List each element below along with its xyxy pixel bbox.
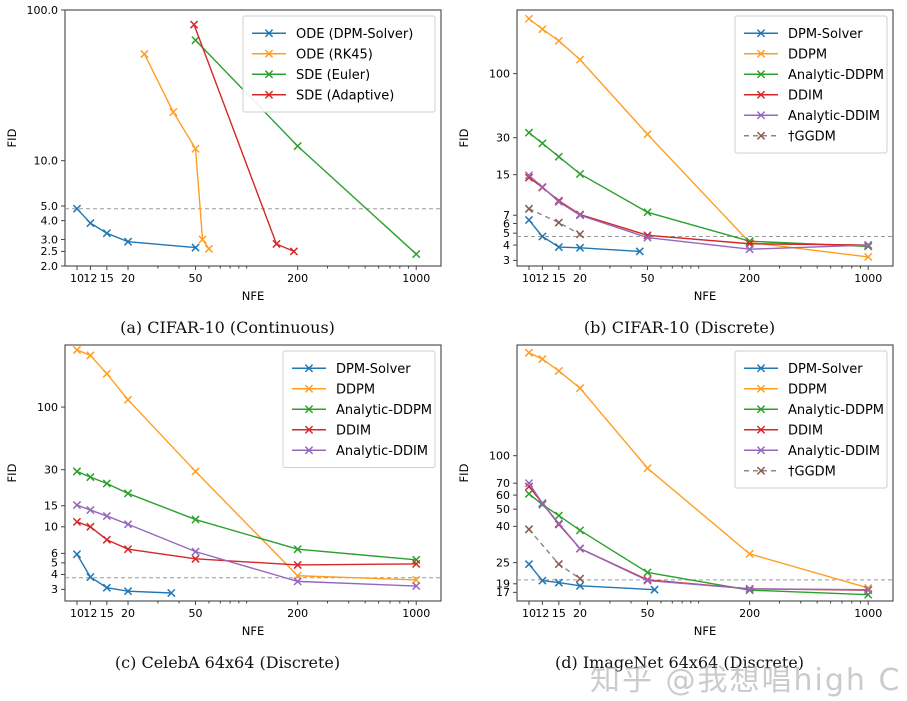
y-axis-label: FID xyxy=(5,463,19,482)
y-tick-label: 100 xyxy=(489,449,510,462)
series-line-analytic-ddim xyxy=(77,505,416,586)
y-tick-label: 70 xyxy=(496,477,510,490)
y-tick-label: 4 xyxy=(503,239,510,252)
legend: DPM-SolverDDPMAnalytic-DDPMDDIMAnalytic-… xyxy=(283,351,435,468)
series-line-ode-dpm-solver- xyxy=(77,209,196,248)
legend-label[interactable]: DDIM xyxy=(788,88,823,103)
x-tick-label: 20 xyxy=(121,272,135,285)
legend-label[interactable]: DDPM xyxy=(788,382,827,397)
y-tick-label: 3.0 xyxy=(41,233,59,246)
figure-root: 101215205020010002.02.53.04.05.010.0100.… xyxy=(0,0,907,701)
x-tick-label: 200 xyxy=(739,607,760,620)
y-tick-label: 5.0 xyxy=(41,200,59,213)
y-tick-label: 2.0 xyxy=(41,260,59,273)
legend-label[interactable]: DDIM xyxy=(336,423,371,438)
y-tick-label: 30 xyxy=(44,463,58,476)
y-tick-label: 100 xyxy=(489,67,510,80)
x-tick-label: 15 xyxy=(552,272,566,285)
legend: ODE (DPM-Solver)ODE (RK45)SDE (Euler)SDE… xyxy=(243,16,435,112)
x-tick-label: 1000 xyxy=(854,272,882,285)
y-tick-label: 3 xyxy=(503,254,510,267)
legend-label[interactable]: †GGDM xyxy=(788,129,836,144)
y-tick-label: 19 xyxy=(496,578,510,591)
series-line-analytic-ddim xyxy=(529,175,868,249)
y-tick-label: 10 xyxy=(44,521,58,534)
y-axis-label: FID xyxy=(5,128,19,147)
series-line-dpm-solver xyxy=(529,220,640,251)
legend-label[interactable]: SDE (Euler) xyxy=(296,68,370,83)
x-tick-label: 50 xyxy=(189,607,203,620)
x-tick-label: 15 xyxy=(100,272,114,285)
legend-label[interactable]: Analytic-DDPM xyxy=(788,68,884,83)
series-line--ggdm xyxy=(529,529,580,578)
x-tick-label: 200 xyxy=(739,272,760,285)
y-tick-label: 10.0 xyxy=(34,154,59,167)
y-axis-label: FID xyxy=(457,463,471,482)
y-tick-label: 15 xyxy=(496,168,510,181)
y-tick-label: 6 xyxy=(51,547,58,560)
x-tick-label: 20 xyxy=(573,272,587,285)
y-tick-label: 15 xyxy=(44,500,58,513)
x-axis-label: NFE xyxy=(694,624,716,638)
series-line-ddim xyxy=(529,487,868,591)
x-tick-label: 20 xyxy=(121,607,135,620)
series-line-dpm-solver xyxy=(77,554,171,593)
x-tick-label: 12 xyxy=(535,272,549,285)
legend-label[interactable]: Analytic-DDIM xyxy=(336,444,428,459)
legend-label[interactable]: DPM-Solver xyxy=(788,27,863,42)
legend-label[interactable]: DDIM xyxy=(788,423,823,438)
x-tick-label: 50 xyxy=(641,272,655,285)
legend-label[interactable]: Analytic-DDPM xyxy=(336,403,432,418)
y-tick-label: 100 xyxy=(37,401,58,414)
x-tick-label: 1000 xyxy=(402,607,430,620)
x-tick-label: 50 xyxy=(641,607,655,620)
legend-label[interactable]: DPM-Solver xyxy=(336,362,411,377)
legend-label[interactable]: Analytic-DDIM xyxy=(788,444,880,459)
panel-caption-c: (c) CelebA 64x64 (Discrete) xyxy=(0,653,455,672)
y-tick-label: 4.0 xyxy=(41,214,59,227)
y-tick-label: 7 xyxy=(503,209,510,222)
chart-panel-b: 10121520502001000345671530100NFEFIDDPM-S… xyxy=(452,0,907,335)
series-line-ddim xyxy=(77,522,416,565)
x-tick-label: 12 xyxy=(83,272,97,285)
x-tick-label: 200 xyxy=(287,272,308,285)
y-tick-label: 30 xyxy=(496,132,510,145)
chart-svg-d: 1012152050200100017192540506070100NFEFID… xyxy=(452,335,907,647)
chart-svg-a: 101215205020010002.02.53.04.05.010.0100.… xyxy=(0,0,455,312)
legend-label[interactable]: DDPM xyxy=(336,382,375,397)
chart-panel-d: 1012152050200100017192540506070100NFEFID… xyxy=(452,335,907,701)
x-tick-label: 12 xyxy=(535,607,549,620)
x-tick-label: 200 xyxy=(287,607,308,620)
x-tick-label: 20 xyxy=(573,607,587,620)
x-tick-label: 15 xyxy=(552,607,566,620)
chart-panel-a: 101215205020010002.02.53.04.05.010.0100.… xyxy=(0,0,455,335)
y-tick-label: 60 xyxy=(496,489,510,502)
y-tick-label: 4 xyxy=(51,568,58,581)
legend-label[interactable]: Analytic-DDIM xyxy=(788,109,880,124)
chart-svg-b: 10121520502001000345671530100NFEFIDDPM-S… xyxy=(452,0,907,312)
y-tick-label: 3 xyxy=(51,583,58,596)
x-tick-label: 1000 xyxy=(402,272,430,285)
legend: DPM-SolverDDPMAnalytic-DDPMDDIMAnalytic-… xyxy=(735,16,887,153)
y-tick-label: 100.0 xyxy=(27,4,59,17)
y-tick-label: 2.5 xyxy=(41,245,59,258)
panel-caption-d: (d) ImageNet 64x64 (Discrete) xyxy=(452,653,907,672)
x-tick-label: 10 xyxy=(70,607,84,620)
chart-svg-c: 101215205020010003456101530100NFEFIDDPM-… xyxy=(0,335,455,647)
legend: DPM-SolverDDPMAnalytic-DDPMDDIMAnalytic-… xyxy=(735,351,887,488)
legend-label[interactable]: ODE (RK45) xyxy=(296,47,373,62)
legend-label[interactable]: †GGDM xyxy=(788,464,836,479)
x-tick-label: 10 xyxy=(70,272,84,285)
legend-label[interactable]: ODE (DPM-Solver) xyxy=(296,27,413,42)
y-tick-label: 40 xyxy=(496,520,510,533)
x-axis-label: NFE xyxy=(694,289,716,303)
legend-label[interactable]: DDPM xyxy=(788,47,827,62)
y-tick-label: 25 xyxy=(496,556,510,569)
x-tick-label: 12 xyxy=(83,607,97,620)
x-axis-label: NFE xyxy=(242,289,264,303)
legend-label[interactable]: SDE (Adaptive) xyxy=(296,88,394,103)
legend-label[interactable]: Analytic-DDPM xyxy=(788,403,884,418)
y-axis-label: FID xyxy=(457,128,471,147)
x-tick-label: 10 xyxy=(522,272,536,285)
chart-panel-c: 101215205020010003456101530100NFEFIDDPM-… xyxy=(0,335,455,701)
x-axis-label: NFE xyxy=(242,624,264,638)
series-line-analytic-ddpm xyxy=(77,471,416,559)
x-tick-label: 15 xyxy=(100,607,114,620)
x-tick-label: 1000 xyxy=(854,607,882,620)
x-tick-label: 10 xyxy=(522,607,536,620)
x-tick-label: 50 xyxy=(189,272,203,285)
series-line-dpm-solver xyxy=(529,564,655,590)
legend-label[interactable]: DPM-Solver xyxy=(788,362,863,377)
y-tick-label: 50 xyxy=(496,503,510,516)
